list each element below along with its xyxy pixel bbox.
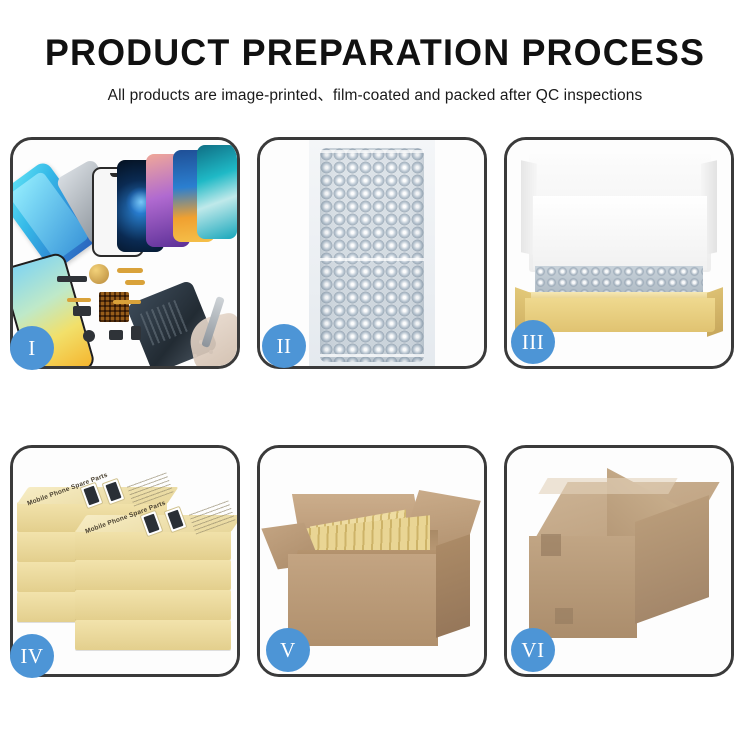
sim-tray-icon	[131, 326, 141, 340]
process-step-2[interactable]: II	[257, 137, 487, 369]
pouch-seam-icon	[320, 258, 424, 261]
carton-front-face-icon	[288, 554, 438, 646]
pouch-seam-icon	[320, 354, 424, 357]
earpiece-chip-icon	[57, 276, 87, 282]
carton-tape-tab-icon	[555, 608, 573, 624]
page-title: PRODUCT PREPARATION PROCESS	[11, 34, 739, 73]
pouch-seam-icon	[320, 150, 424, 153]
step-2-badge: II	[262, 324, 306, 368]
button-part-icon	[83, 330, 95, 342]
flex-cable-icon	[113, 300, 141, 304]
page-header: PRODUCT PREPARATION PROCESS All products…	[0, 0, 750, 105]
kraft-box	[75, 560, 231, 590]
process-step-6[interactable]: VI	[504, 445, 734, 677]
step-1-badge: I	[10, 326, 54, 370]
page-subtitle: All products are image-printed、film-coat…	[0, 83, 750, 105]
kraft-box-front-icon	[525, 298, 715, 332]
kraft-box	[75, 620, 231, 650]
flex-cable-icon	[117, 268, 143, 273]
kraft-box: Mobile Phone Spare Parts	[75, 530, 231, 560]
process-step-4[interactable]: Mobile Phone Spare Parts Mobile Phone Sp…	[10, 445, 240, 677]
step-4-badge: IV	[10, 634, 54, 678]
packing-tape-icon	[538, 478, 677, 494]
flex-cable-icon	[125, 280, 145, 285]
kraft-box	[75, 590, 231, 620]
process-step-grid: I II III	[10, 137, 740, 677]
speaker-coil-icon	[89, 264, 109, 284]
foam-sheet-icon	[533, 196, 707, 270]
bubble-grid-icon	[320, 148, 424, 362]
mesh-grille-icon	[99, 292, 129, 322]
process-step-3[interactable]: III	[504, 137, 734, 369]
kraft-box-phone-image	[80, 482, 104, 509]
step-5-badge: V	[266, 628, 310, 672]
teal-gradient-phone-icon	[197, 145, 237, 239]
small-chip-icon	[73, 306, 91, 316]
carton-tape-tab-icon	[541, 534, 561, 556]
process-step-5[interactable]: V	[257, 445, 487, 677]
step-3-badge: III	[511, 320, 555, 364]
step-6-badge: VI	[511, 628, 555, 672]
carton-side-face-icon	[436, 534, 470, 638]
camera-module-icon	[109, 330, 123, 340]
process-step-1[interactable]: I	[10, 137, 240, 369]
flex-cable-icon	[67, 298, 91, 302]
